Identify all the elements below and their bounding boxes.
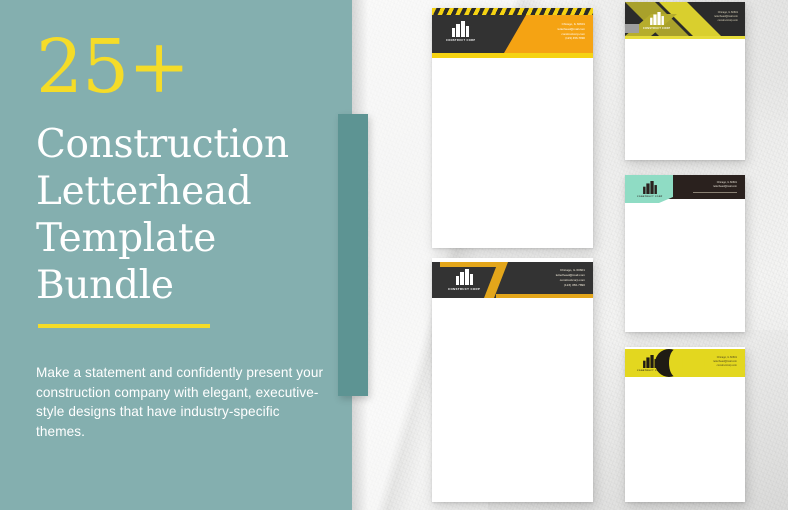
yellow-underline (432, 53, 593, 58)
contact-line-2: letterhead@mail.com (713, 185, 737, 189)
contact-line-3: constructcorp.com (714, 19, 738, 23)
contact-line-4: (123) 456-7890 (558, 36, 585, 41)
mockup-gold-slash-letterhead: CONSTRUCT CORP Chicago, IL 60601 letterh… (432, 258, 593, 502)
page-title: Construction Letterhead Template Bundle (36, 121, 336, 309)
contact-line-4: (123) 456-7890 (556, 283, 585, 288)
header-band: CONSTRUCT CORP Chicago, IL 60601 letterh… (432, 8, 593, 60)
mockup-olive-chevron-letterhead: CONSTRUCT CORP Chicago, IL 60601 letterh… (625, 2, 745, 160)
count-label: 25+ (36, 30, 189, 104)
building-skyline-icon (643, 181, 657, 194)
hazard-stripe-border (432, 8, 593, 15)
brand-logo: CONSTRUCT CORP (637, 355, 663, 372)
contact-block: Chicago, IL 60601 letterhead@mail.com co… (556, 268, 585, 288)
contact-underline (693, 192, 737, 193)
promo-graphic-canvas: 25+ Construction Letterhead Template Bun… (0, 0, 788, 510)
teal-accent-strip (338, 114, 368, 396)
building-skyline-icon (452, 21, 469, 37)
hourglass-cutout (669, 349, 683, 377)
header-band: CONSTRUCT CORP Chicago, IL 60601 letterh… (625, 175, 745, 205)
mockup-mint-block-letterhead: CONSTRUCT CORP Chicago, IL 60601 letterh… (625, 175, 745, 332)
yellow-divider-rule (38, 324, 210, 328)
title-line-3: Template (36, 215, 336, 262)
contact-block: Chicago, IL 60601 letterhead@mail.com co… (713, 356, 737, 368)
header-band: CONSTRUCT CORP Chicago, IL 60601 letterh… (625, 2, 745, 44)
title-line-1: Construction (36, 121, 336, 168)
brand-name: CONSTRUCT CORP (637, 370, 663, 372)
contact-block: Chicago, IL 60601 letterhead@mail.com co… (558, 22, 585, 41)
brand-logo: CONSTRUCT CORP (448, 269, 480, 291)
building-skyline-icon (650, 12, 664, 25)
brand-name: CONSTRUCT CORP (448, 287, 480, 291)
contact-line-3: constructcorp.com (713, 364, 737, 368)
header-band: CONSTRUCT CORP Chicago, IL 60601 letterh… (432, 258, 593, 304)
contact-block: Chicago, IL 60601 letterhead@mail.com (713, 181, 737, 189)
brand-name: CONSTRUCT CORP (446, 39, 475, 42)
header-band: CONSTRUCT CORP Chicago, IL 60601 letterh… (625, 347, 745, 381)
brand-name: CONSTRUCT CORP (637, 196, 663, 198)
building-skyline-icon (456, 269, 473, 285)
gold-top-wedge (440, 262, 498, 267)
title-line-2: Letterhead (36, 168, 336, 215)
yellow-underline (625, 36, 745, 39)
contact-block: Chicago, IL 60601 letterhead@mail.com co… (714, 11, 738, 23)
brand-name: CONSTRUCT CORP (643, 27, 670, 30)
brand-logo: CONSTRUCT CORP (446, 21, 475, 42)
mockup-yellow-hourglass-letterhead: CONSTRUCT CORP Chicago, IL 60601 letterh… (625, 347, 745, 502)
mockup-hazard-stripe-letterhead: CONSTRUCT CORP Chicago, IL 60601 letterh… (432, 8, 593, 248)
building-skyline-icon (643, 355, 657, 368)
title-line-4: Bundle (36, 262, 336, 309)
contact-line-2: letterhead@mail.com (558, 27, 585, 32)
gold-bottom-rule (496, 294, 593, 298)
grey-tab (625, 24, 639, 33)
brand-logo: CONSTRUCT CORP (637, 181, 663, 198)
brand-logo: CONSTRUCT CORP (643, 12, 670, 30)
description-text: Make a statement and confidently present… (36, 363, 328, 441)
